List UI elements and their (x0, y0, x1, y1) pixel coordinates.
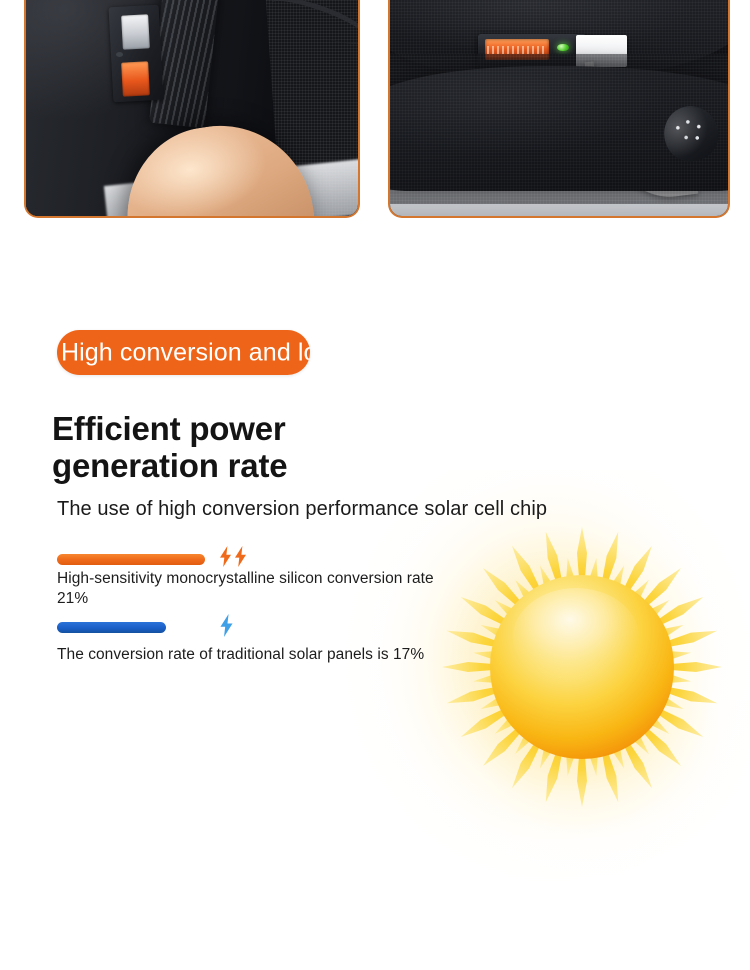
product-photo-gallery (0, 0, 750, 220)
feature-subtitle: The use of high conversion performance s… (57, 496, 677, 522)
photo-canvas-right (390, 0, 728, 216)
bar-monocrystalline (57, 554, 205, 565)
charging-indicator-led (557, 44, 568, 52)
comparison-row-traditional: The conversion rate of traditional solar… (0, 612, 750, 672)
comparison-caption-traditional: The conversion rate of traditional solar… (57, 645, 477, 665)
lightning-bolt-icon (234, 546, 247, 567)
usb-quick-charge-port (121, 62, 150, 97)
lightning-bolt-icon (219, 546, 232, 567)
lightning-bolt-icon (219, 614, 234, 637)
photo-canvas-left (26, 0, 358, 216)
product-photo-charging-cable[interactable] (388, 0, 730, 218)
lightning-bolt-group-blue (219, 614, 234, 637)
usb-a-port (121, 14, 150, 49)
lightning-bolt-group-orange (219, 546, 247, 567)
conversion-rate-comparison-chart: High-sensitivity monocrystalline silicon… (0, 540, 750, 672)
bar-traditional (57, 622, 166, 633)
product-photo-usb-ports[interactable] (24, 0, 360, 218)
comparison-caption-monocrystalline: High-sensitivity monocrystalline silicon… (57, 569, 457, 609)
product-feature-page: High conversion and long life Efficient … (0, 0, 750, 960)
comparison-row-monocrystalline: High-sensitivity monocrystalline silicon… (0, 540, 750, 612)
feature-badge-label: High conversion and long life (61, 340, 310, 365)
feature-badge: High conversion and long life (57, 330, 310, 375)
page-title: Efficient power generation rate (52, 410, 382, 484)
